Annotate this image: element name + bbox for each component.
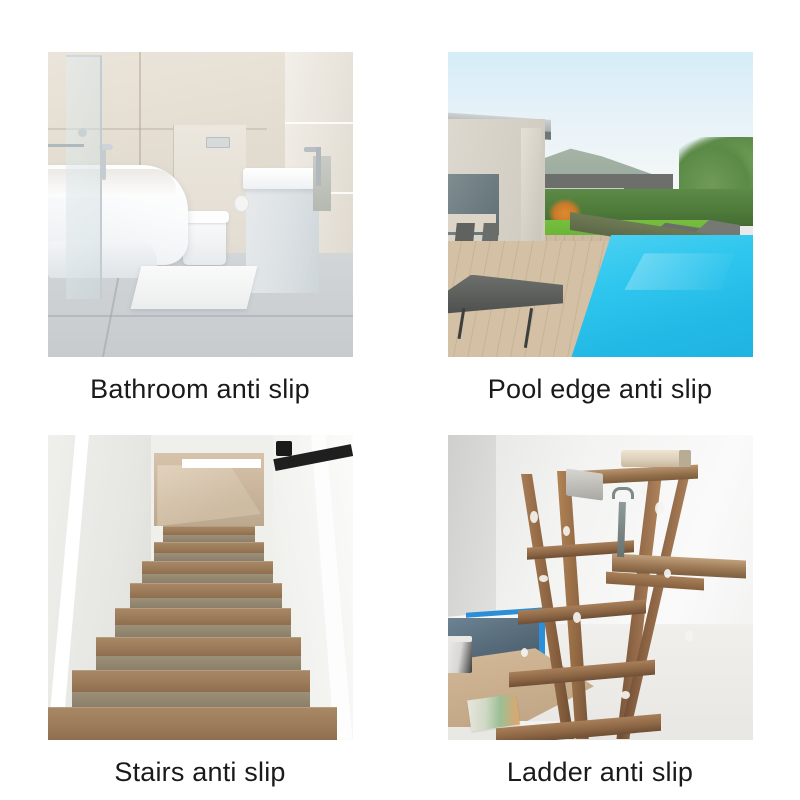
stairs-photo[interactable] (48, 435, 353, 740)
stairs-riser (163, 535, 255, 542)
paint-splatter (539, 575, 548, 582)
paint-splatter (664, 569, 671, 578)
ladder-top-metal-bracket (566, 469, 603, 502)
feature-cell-pool-edge[interactable]: Pool edge anti slip (400, 0, 800, 405)
stairs-riser (72, 692, 310, 707)
stairs-tread (142, 561, 273, 574)
stairs-riser (154, 553, 264, 561)
stairs-landing-trim (182, 459, 261, 468)
ladder-paint-can (448, 639, 472, 673)
feature-cell-bathroom[interactable]: Bathroom anti slip (0, 0, 400, 405)
stairs-handrail-bracket (276, 441, 291, 456)
stairs-tread (96, 637, 300, 657)
stairs-riser (96, 656, 300, 669)
bathroom-glass-screen (66, 55, 103, 299)
bathroom-wall-tap-stem (102, 147, 106, 181)
feature-grid: Bathroom anti slip (0, 0, 800, 800)
feature-cell-stairs[interactable]: Stairs anti slip (0, 405, 400, 800)
stairs-tread (163, 526, 255, 535)
bathroom-right-wall-line (285, 122, 352, 124)
ladder-wall-corner (448, 435, 497, 624)
paint-splatter (640, 487, 646, 495)
caption-pool-edge: Pool edge anti slip (488, 375, 712, 405)
paint-splatter (530, 511, 538, 523)
paint-splatter (655, 502, 664, 515)
bathroom-toilet-roll (234, 195, 249, 212)
pool-patio-column (521, 128, 541, 250)
ladder-brace-hook (612, 487, 633, 499)
bathroom-mixer-tap-stem (316, 147, 321, 187)
ladder-paint-roller-cap (679, 450, 691, 467)
bathroom-photo[interactable] (48, 52, 353, 357)
stairs-riser (115, 625, 292, 637)
pool-edge-photo[interactable] (448, 52, 753, 357)
caption-bathroom: Bathroom anti slip (90, 375, 310, 405)
stairs-tread (130, 583, 283, 598)
caption-stairs: Stairs anti slip (114, 758, 285, 788)
bathroom-flush-plate (206, 137, 230, 148)
feature-cell-ladder[interactable]: Ladder anti slip (400, 405, 800, 800)
stairs-tread (115, 608, 292, 625)
caption-ladder: Ladder anti slip (507, 758, 693, 788)
bathroom-toilet (183, 217, 226, 266)
ladder-photo[interactable] (448, 435, 753, 740)
paint-splatter (521, 648, 528, 657)
bathroom-bath-mat (131, 266, 258, 309)
stairs-riser (130, 598, 283, 608)
stairs-tread (48, 707, 338, 739)
stairs-tread (154, 542, 264, 553)
ladder-paint-can-lid (448, 636, 472, 642)
stairs-tread (72, 670, 310, 693)
bathroom-vanity (246, 183, 319, 293)
stairs-riser (142, 574, 273, 583)
bathroom-grab-bar (48, 144, 85, 147)
paint-splatter (573, 612, 581, 623)
bathroom-floor-grout-line (48, 315, 353, 317)
